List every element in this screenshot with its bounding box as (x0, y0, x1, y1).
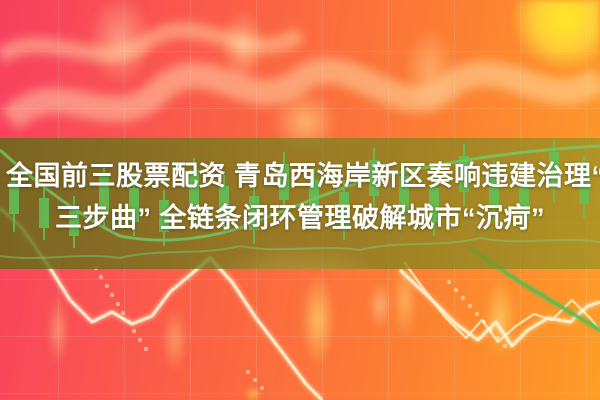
headline-line-1: 全国前三股票配资 青岛西海岸新区奏响违建治理“ (6, 155, 594, 197)
page-title: 全国前三股票配资 青岛西海岸新区奏响违建治理“ 三步曲” 全链条闭环管理破解城市… (0, 155, 600, 239)
news-banner: 全国前三股票配资 青岛西海岸新区奏响违建治理“ 三步曲” 全链条闭环管理破解城市… (0, 0, 600, 400)
headline-line-2: 三步曲” 全链条闭环管理破解城市“沉疴” (6, 197, 594, 239)
